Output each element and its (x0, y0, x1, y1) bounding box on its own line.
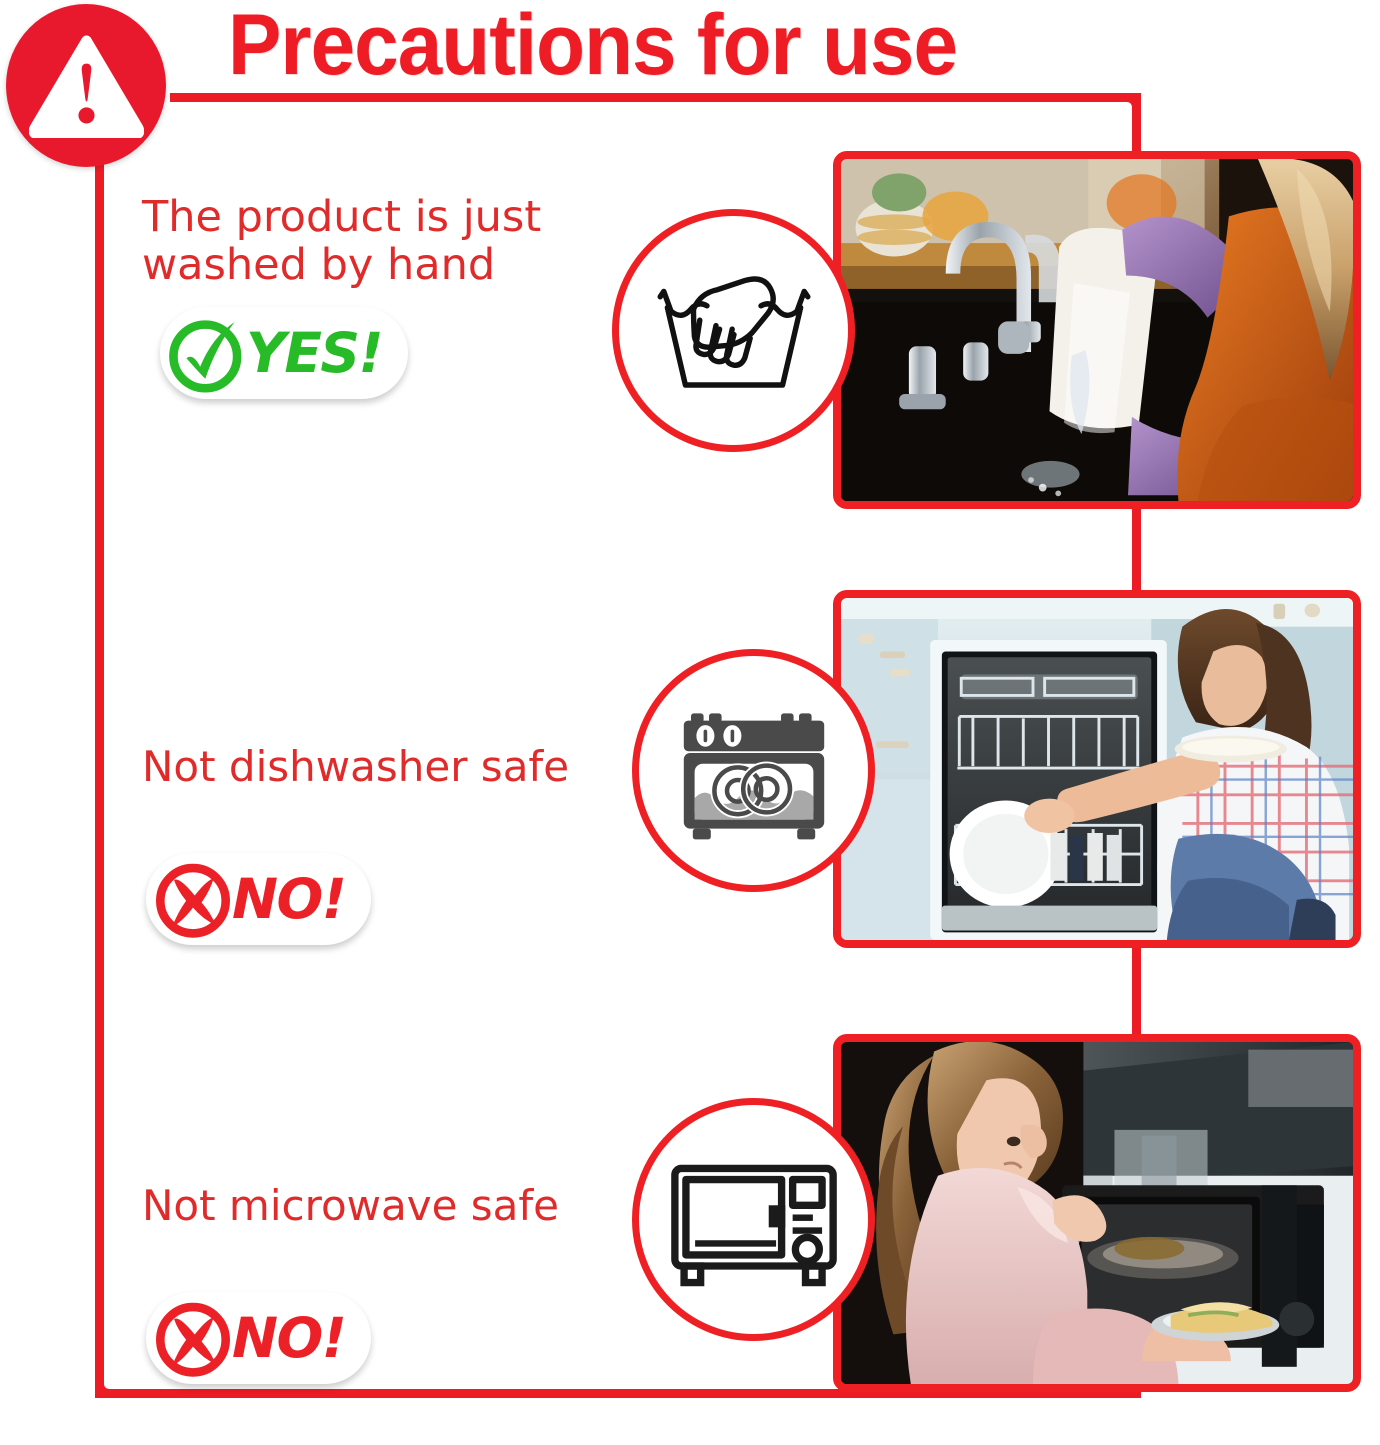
verdict-badge-no-dishwasher: NO! (146, 853, 371, 945)
verdict-text: YES! (246, 321, 382, 385)
precaution-row-dishwasher: Not dishwasher safe NO! (0, 587, 1380, 955)
photo-hand-washing (833, 151, 1361, 509)
cross-circle-icon (150, 1295, 236, 1381)
precaution-label-dishwasher: Not dishwasher safe (142, 743, 642, 790)
dishwasher-icon (632, 649, 875, 892)
precaution-label-line-2: washed by hand (142, 241, 612, 289)
cross-circle-icon (150, 856, 236, 942)
precaution-label-line-1: The product is just (142, 193, 612, 241)
precaution-label-hand-wash: The product is just washed by hand (142, 193, 612, 289)
verdict-badge-no-microwave: NO! (146, 1292, 371, 1384)
warning-triangle-icon (6, 4, 166, 167)
photo-dishwasher-loading (833, 590, 1361, 948)
precaution-row-microwave: Not microwave safe NO! (0, 1026, 1380, 1394)
hand-wash-basin-icon (612, 209, 855, 452)
page-title: Precautions for use (228, 0, 957, 95)
photo-microwave-use (833, 1034, 1361, 1392)
infographic-stage: Precautions for use The product is just … (0, 0, 1380, 1445)
precaution-row-hand-wash: The product is just washed by hand YES! (0, 145, 1380, 515)
verdict-badge-yes: YES! (160, 307, 408, 399)
verdict-text: NO! (232, 1306, 345, 1370)
precaution-label-microwave: Not microwave safe (142, 1182, 642, 1229)
connector-corner-top-right (1105, 93, 1141, 129)
microwave-oven-icon (632, 1098, 875, 1341)
verdict-text: NO! (232, 867, 345, 931)
check-circle-icon (164, 310, 250, 396)
